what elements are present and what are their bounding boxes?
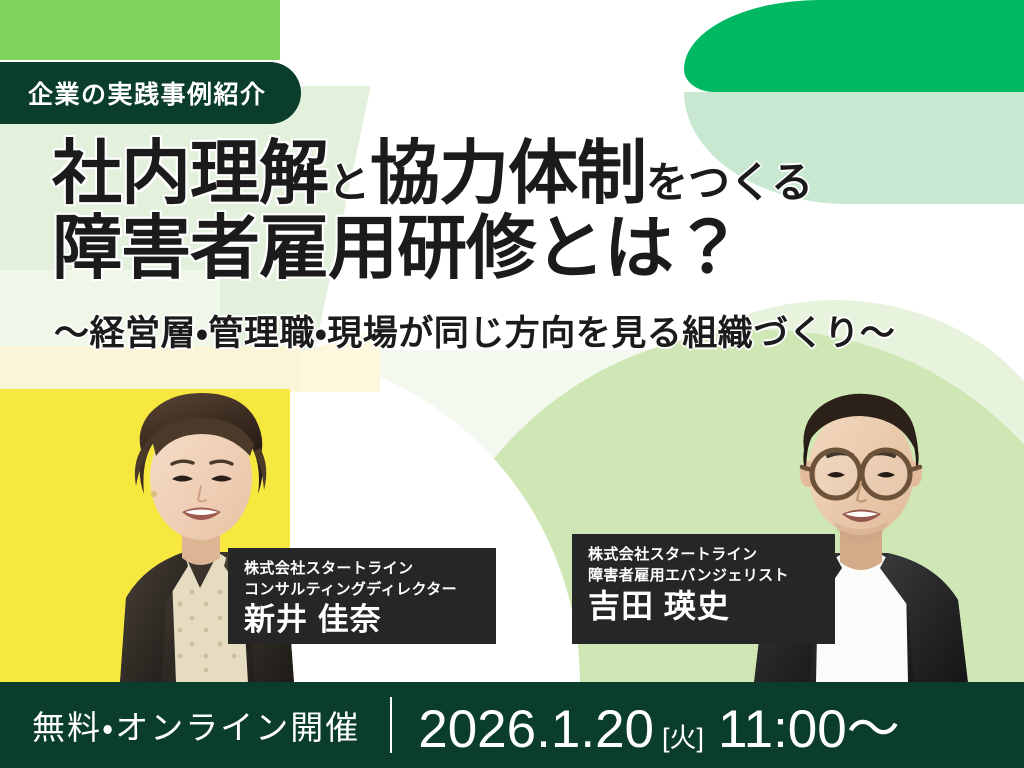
headline-segment-to: と — [328, 162, 370, 205]
speaker-nameplate-yoshida: 株式会社スタートライン 障害者雇用エバンジェリスト 吉田 瑛史 — [572, 534, 835, 644]
speaker-company: 株式会社スタートライン — [244, 558, 482, 579]
speaker-nameplate-arai: 株式会社スタートライン コンサルティングディレクター 新井 佳奈 — [228, 548, 496, 644]
speaker-company: 株式会社スタートライン — [588, 544, 821, 565]
speaker-name: 吉田 瑛史 — [588, 588, 821, 625]
headline-segment-wotsukuru: をつくる — [646, 162, 813, 205]
headline-segment-shanai-rikai: 社内理解 — [52, 138, 328, 209]
speaker-role: コンサルティングディレクター — [244, 579, 482, 600]
free-online-label: 無料・オンライン開催 — [32, 701, 360, 749]
top-right-green-block — [684, 0, 1024, 92]
speaker-name: 新井 佳奈 — [244, 602, 482, 638]
event-datetime: 2026.1.20 [火] 11:00〜 — [418, 687, 900, 763]
event-date: 2026.1.20 — [418, 699, 654, 760]
headline-subtitle: 〜経営層・管理職・現場が同じ方向を見る組織づくり〜 — [54, 305, 895, 356]
category-badge: 企業の実践事例紹介 — [0, 62, 301, 124]
webinar-banner: 企業の実践事例紹介 社内理解 と 協力体制 をつくる 障害者雇用研修とは？ 〜経… — [0, 0, 1024, 768]
headline-segment-kyoryoku: 協力体制 — [370, 138, 646, 209]
event-time: 11:00〜 — [718, 687, 900, 763]
top-left-green-block — [0, 0, 280, 60]
headline-segment-kenshu: 障害者雇用研修とは？ — [52, 213, 742, 284]
headline-line-2: 障害者雇用研修とは？ — [52, 213, 982, 284]
headline: 社内理解 と 協力体制 をつくる 障害者雇用研修とは？ — [52, 138, 982, 285]
vertical-divider — [390, 697, 392, 753]
speaker-role: 障害者雇用エバンジェリスト — [588, 565, 821, 586]
category-badge-label: 企業の実践事例紹介 — [28, 75, 267, 111]
event-info-bar: 無料・オンライン開催 2026.1.20 [火] 11:00〜 — [0, 682, 1024, 768]
headline-line-1: 社内理解 と 協力体制 をつくる — [52, 138, 982, 209]
event-day-of-week: [火] — [662, 716, 704, 755]
